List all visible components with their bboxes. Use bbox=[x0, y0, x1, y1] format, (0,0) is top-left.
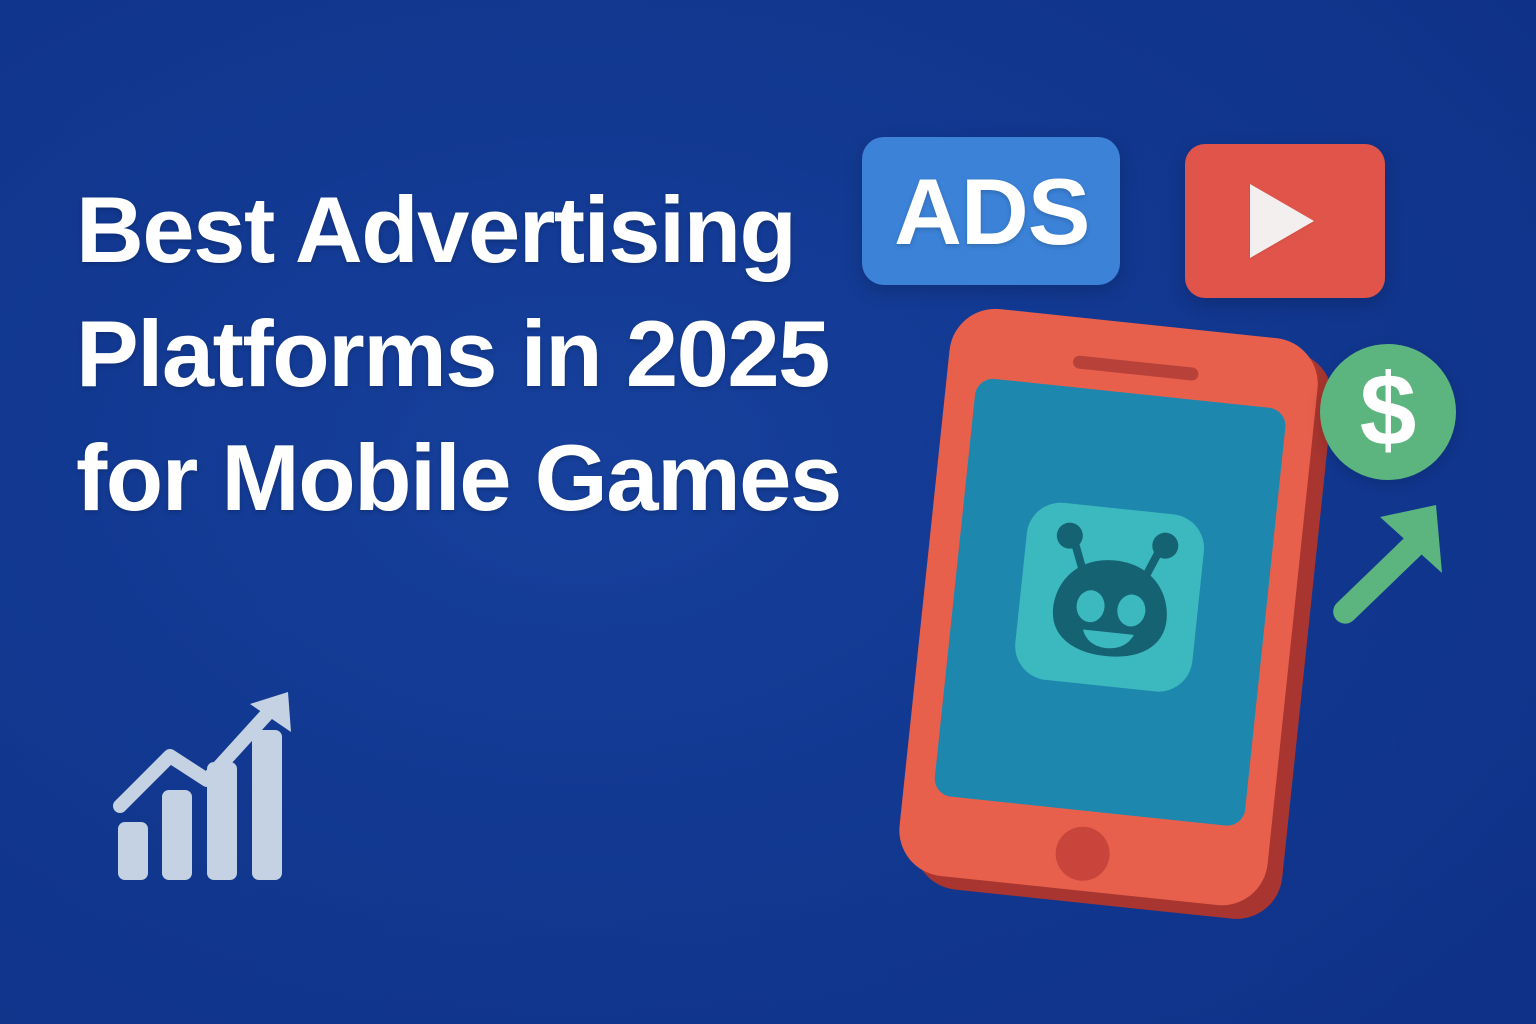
phone-screen bbox=[933, 377, 1287, 827]
headline-line-1: Best Advertising bbox=[76, 168, 996, 292]
headline-line-3: for Mobile Games bbox=[76, 416, 996, 540]
headline-line-2: Platforms in 2025 bbox=[76, 292, 996, 416]
ads-badge-label: ADS bbox=[894, 170, 1089, 254]
dollar-sign-label: $ bbox=[1320, 344, 1456, 480]
play-triangle-icon bbox=[1250, 184, 1314, 258]
robot-mascot-icon bbox=[1029, 513, 1194, 678]
arrow-up-right-icon bbox=[1310, 495, 1450, 655]
mobile-phone-illustration bbox=[885, 298, 1366, 949]
phone-home-button bbox=[1053, 824, 1112, 883]
growth-bar-chart-icon bbox=[112, 680, 312, 890]
phone-speaker-grille bbox=[1072, 355, 1199, 381]
page-title: Best Advertising Platforms in 2025 for M… bbox=[76, 168, 996, 540]
poster-canvas: Best Advertising Platforms in 2025 for M… bbox=[0, 0, 1536, 1024]
phone-body bbox=[895, 304, 1323, 910]
